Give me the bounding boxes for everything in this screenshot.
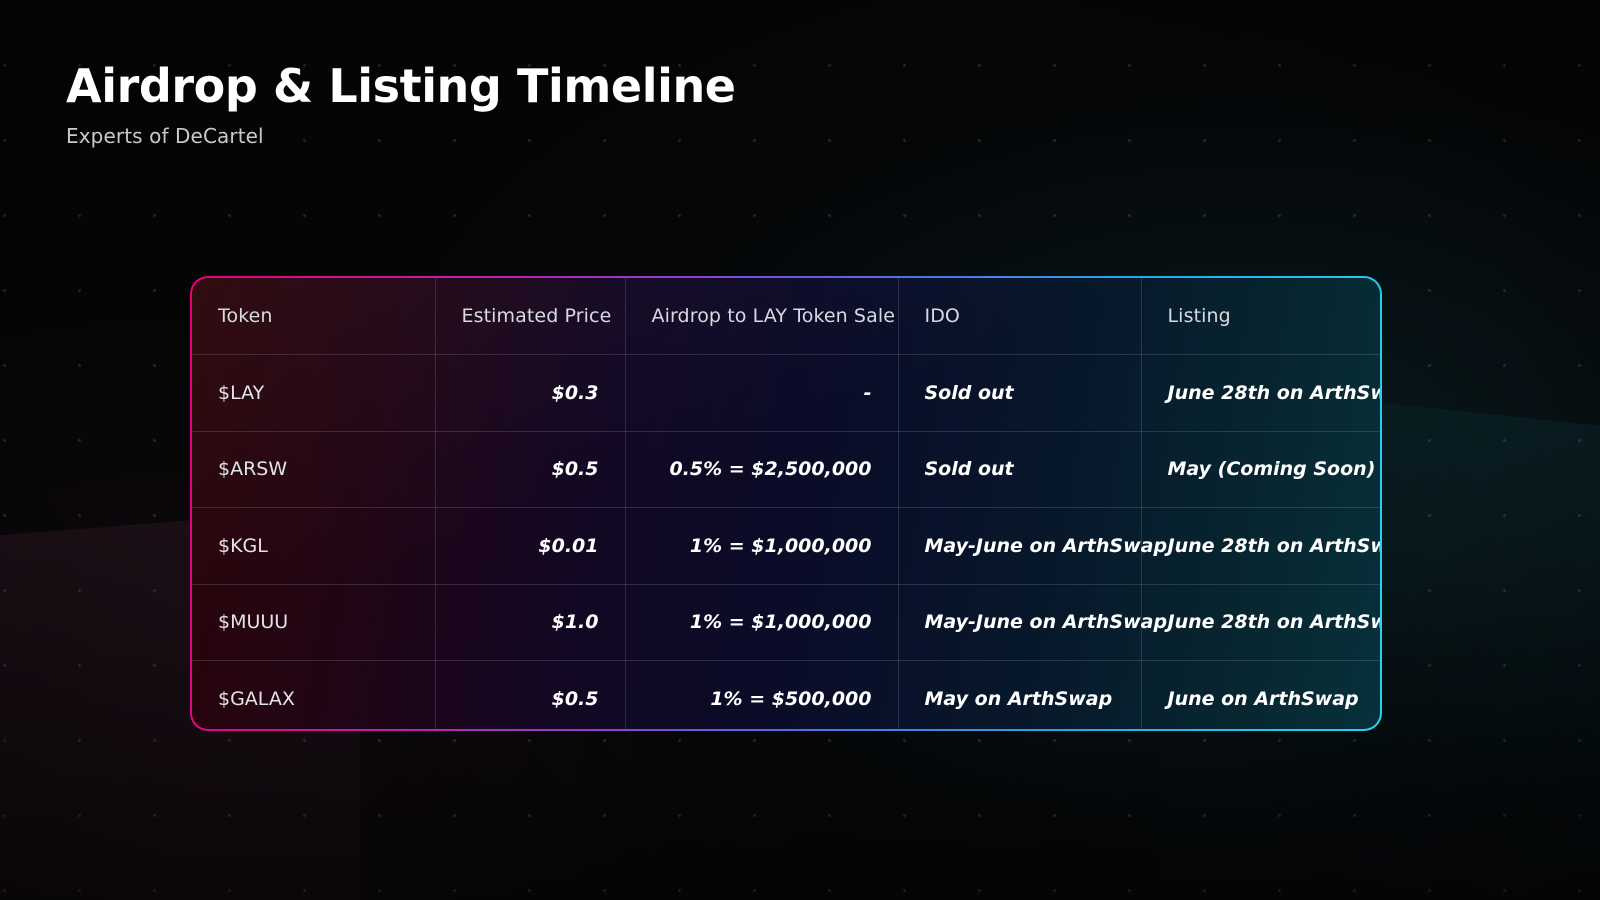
timeline-table-border: Token Estimated Price Airdrop to LAY Tok… <box>190 276 1382 731</box>
slide-canvas: Airdrop & Listing Timeline Experts of De… <box>0 0 1600 900</box>
table-row: $MUUU $1.0 1% = $1,000,000 May-June on A… <box>192 584 1380 661</box>
cell-price: $0.01 <box>435 508 625 585</box>
cell-token: $ARSW <box>192 431 435 508</box>
timeline-table: Token Estimated Price Airdrop to LAY Tok… <box>192 278 1380 729</box>
cell-airdrop: 1% = $1,000,000 <box>625 584 898 661</box>
cell-token: $MUUU <box>192 584 435 661</box>
table-header-row: Token Estimated Price Airdrop to LAY Tok… <box>192 278 1380 355</box>
table-row: $ARSW $0.5 0.5% = $2,500,000 Sold out Ma… <box>192 431 1380 508</box>
cell-listing: June 28th on ArthSwap <box>1141 355 1380 432</box>
table-row: $GALAX $0.5 1% = $500,000 May on ArthSwa… <box>192 661 1380 730</box>
column-header-token: Token <box>192 278 435 355</box>
cell-token: $LAY <box>192 355 435 432</box>
cell-airdrop: 0.5% = $2,500,000 <box>625 431 898 508</box>
cell-ido: May-June on ArthSwap <box>898 584 1141 661</box>
cell-ido: May on ArthSwap <box>898 661 1141 730</box>
table-header: Token Estimated Price Airdrop to LAY Tok… <box>192 278 1380 355</box>
timeline-table-card: Token Estimated Price Airdrop to LAY Tok… <box>192 278 1380 729</box>
column-header-listing: Listing <box>1141 278 1380 355</box>
cell-ido: Sold out <box>898 431 1141 508</box>
cell-price: $0.5 <box>435 431 625 508</box>
cell-token: $GALAX <box>192 661 435 730</box>
cell-ido: Sold out <box>898 355 1141 432</box>
cell-listing: May (Coming Soon) <box>1141 431 1380 508</box>
page-title: Airdrop & Listing Timeline <box>66 62 736 112</box>
cell-price: $0.5 <box>435 661 625 730</box>
cell-listing: June on ArthSwap <box>1141 661 1380 730</box>
table-body: $LAY $0.3 - Sold out June 28th on ArthSw… <box>192 355 1380 730</box>
column-header-airdrop: Airdrop to LAY Token Sale <box>625 278 898 355</box>
column-header-ido: IDO <box>898 278 1141 355</box>
cell-airdrop: - <box>625 355 898 432</box>
cell-listing: June 28th on ArthSwap <box>1141 584 1380 661</box>
cell-price: $1.0 <box>435 584 625 661</box>
cell-airdrop: 1% = $500,000 <box>625 661 898 730</box>
cell-token: $KGL <box>192 508 435 585</box>
table-row: $KGL $0.01 1% = $1,000,000 May-June on A… <box>192 508 1380 585</box>
cell-airdrop: 1% = $1,000,000 <box>625 508 898 585</box>
column-header-price: Estimated Price <box>435 278 625 355</box>
slide-header: Airdrop & Listing Timeline Experts of De… <box>66 62 736 148</box>
cell-listing: June 28th on ArthSwap <box>1141 508 1380 585</box>
table-row: $LAY $0.3 - Sold out June 28th on ArthSw… <box>192 355 1380 432</box>
page-subtitle: Experts of DeCartel <box>66 124 736 148</box>
cell-price: $0.3 <box>435 355 625 432</box>
cell-ido: May-June on ArthSwap <box>898 508 1141 585</box>
